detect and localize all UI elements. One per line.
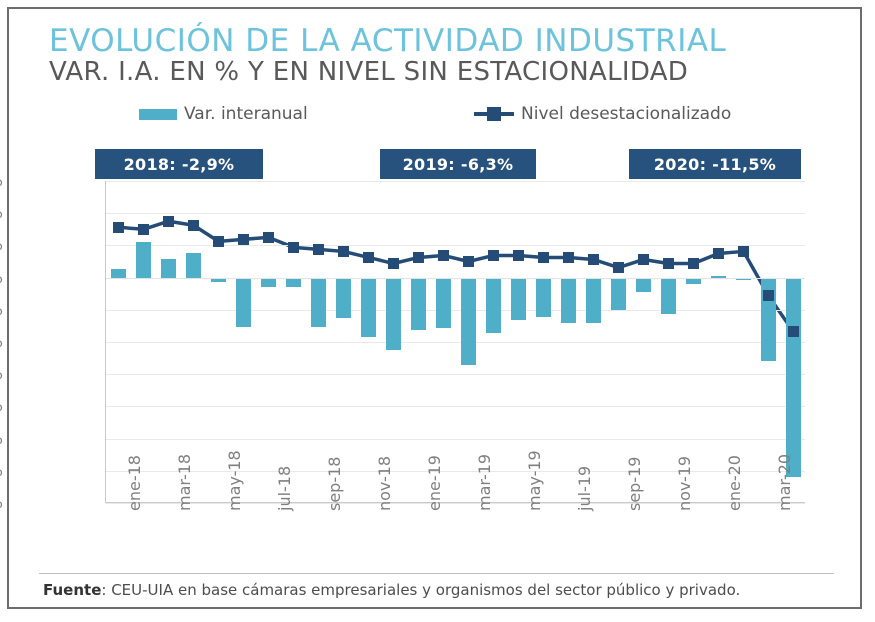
line-marker-sep-19[interactable] xyxy=(613,262,624,273)
line-marker-abr-20[interactable] xyxy=(788,326,799,337)
line-marker-jun-19[interactable] xyxy=(538,252,549,263)
legend-line-swatch-icon xyxy=(474,107,514,121)
x-axis-label-jul-18: jul-18 xyxy=(275,466,294,511)
y-axis-left-tick: 0% xyxy=(0,268,3,287)
chart-subtitle: VAR. I.A. EN % Y EN NIVEL SIN ESTACIONAL… xyxy=(49,57,839,87)
y-axis-left-tick: -35% xyxy=(0,493,3,512)
bar-nov-19[interactable] xyxy=(661,278,677,314)
line-marker-dic-18[interactable] xyxy=(388,258,399,269)
x-axis-label-ene-19: ene-19 xyxy=(425,455,444,511)
bar-jun-19[interactable] xyxy=(536,278,552,317)
line-marker-feb-19[interactable] xyxy=(438,250,449,261)
legend-label-var-interanual: Var. interanual xyxy=(184,104,308,124)
line-marker-oct-19[interactable] xyxy=(638,254,649,265)
y-axis-left-tick: 15% xyxy=(0,171,3,190)
line-marker-mar-18[interactable] xyxy=(163,216,174,227)
line-marker-ene-18[interactable] xyxy=(113,222,124,233)
chart-frame: EVOLUCIÓN DE LA ACTIVIDAD INDUSTRIAL VAR… xyxy=(7,7,862,609)
line-marker-may-18[interactable] xyxy=(213,236,224,247)
bar-abr-19[interactable] xyxy=(486,278,502,333)
line-marker-dic-19[interactable] xyxy=(688,258,699,269)
annotation-2019: 2019: -6,3% xyxy=(380,149,536,179)
bar-ago-18[interactable] xyxy=(286,278,302,287)
bar-abr-20[interactable] xyxy=(786,278,802,478)
gridline xyxy=(106,374,805,375)
gridline xyxy=(106,213,805,214)
line-marker-nov-19[interactable] xyxy=(663,258,674,269)
y-axis-left-tick: -10% xyxy=(0,332,3,351)
line-marker-jun-18[interactable] xyxy=(238,234,249,245)
line-marker-feb-20[interactable] xyxy=(738,246,749,257)
footer-source-label: Fuente xyxy=(43,581,101,599)
plot-area: 15%10%5%0%-5%-10%-15%-20%-25%-30%-35%160… xyxy=(105,181,805,503)
x-axis-label-nov-18: nov-18 xyxy=(375,456,394,511)
line-marker-mar-19[interactable] xyxy=(463,256,474,267)
gridline xyxy=(106,181,805,182)
y-axis-left-tick: -30% xyxy=(0,461,3,480)
line-marker-jul-19[interactable] xyxy=(563,252,574,263)
annotation-2020: 2020: -11,5% xyxy=(629,149,801,179)
x-axis-label-mar-18: mar-18 xyxy=(175,454,194,511)
footer-source: Fuente: CEU-UIA en base cámaras empresar… xyxy=(43,581,833,599)
line-marker-ago-19[interactable] xyxy=(588,254,599,265)
x-axis-label-may-18: may-18 xyxy=(225,450,244,511)
y-axis-left-tick: 10% xyxy=(0,203,3,222)
bar-may-19[interactable] xyxy=(511,278,527,321)
legend-label-nivel-desestacionalizado: Nivel desestacionalizado xyxy=(521,104,731,124)
x-axis-label-jul-19: jul-19 xyxy=(575,466,594,511)
bar-dic-18[interactable] xyxy=(386,278,402,351)
line-marker-ene-20[interactable] xyxy=(713,248,724,259)
gridline xyxy=(106,310,805,311)
bar-feb-18[interactable] xyxy=(136,242,152,278)
x-axis-label-ene-18: ene-18 xyxy=(125,455,144,511)
bar-sep-19[interactable] xyxy=(611,278,627,311)
line-marker-may-19[interactable] xyxy=(513,250,524,261)
y-axis-left-tick: -15% xyxy=(0,364,3,383)
bar-feb-19[interactable] xyxy=(436,278,452,329)
line-marker-abr-18[interactable] xyxy=(188,220,199,231)
x-axis-label-nov-19: nov-19 xyxy=(675,456,694,511)
line-marker-ago-18[interactable] xyxy=(288,242,299,253)
bar-jul-18[interactable] xyxy=(261,278,277,288)
x-axis-label-ene-20: ene-20 xyxy=(725,455,744,511)
gridline xyxy=(106,439,805,440)
y-axis-left-tick: -20% xyxy=(0,396,3,415)
x-axis-label-may-19: may-19 xyxy=(525,450,544,511)
bar-mar-18[interactable] xyxy=(161,259,177,278)
bar-ene-19[interactable] xyxy=(411,278,427,331)
bar-ene-18[interactable] xyxy=(111,269,127,278)
bar-jul-19[interactable] xyxy=(561,278,577,324)
gridline xyxy=(106,342,805,343)
footer-divider xyxy=(39,573,834,574)
bar-ago-19[interactable] xyxy=(586,278,602,323)
legend-bar-swatch-icon xyxy=(139,109,177,120)
bar-oct-19[interactable] xyxy=(636,278,652,293)
bar-oct-18[interactable] xyxy=(336,278,352,318)
footer-source-text: : CEU-UIA en base cámaras empresariales … xyxy=(101,581,740,599)
annotation-2018: 2018: -2,9% xyxy=(95,149,263,179)
line-marker-ene-19[interactable] xyxy=(413,252,424,263)
x-axis-label-mar-19: mar-19 xyxy=(475,454,494,511)
gridline xyxy=(106,245,805,246)
line-marker-feb-18[interactable] xyxy=(138,224,149,235)
bar-sep-18[interactable] xyxy=(311,278,327,328)
x-axis-label-mar-20: mar-20 xyxy=(775,454,794,511)
chart-title: EVOLUCIÓN DE LA ACTIVIDAD INDUSTRIAL xyxy=(49,23,829,59)
line-marker-oct-18[interactable] xyxy=(338,246,349,257)
x-axis-label-sep-18: sep-18 xyxy=(325,457,344,511)
zero-baseline xyxy=(106,278,805,279)
line-marker-nov-18[interactable] xyxy=(363,252,374,263)
bar-abr-18[interactable] xyxy=(186,253,202,277)
bar-mar-19[interactable] xyxy=(461,278,477,365)
line-marker-sep-18[interactable] xyxy=(313,244,324,255)
legend-item-nivel-desestacionalizado[interactable]: Nivel desestacionalizado xyxy=(474,101,731,127)
legend-item-var-interanual[interactable]: Var. interanual xyxy=(139,101,308,127)
bar-jun-18[interactable] xyxy=(236,278,252,328)
y-axis-left-tick: -25% xyxy=(0,429,3,448)
line-marker-mar-20[interactable] xyxy=(763,290,774,301)
y-axis-left-tick: -5% xyxy=(0,300,3,319)
line-marker-jul-18[interactable] xyxy=(263,232,274,243)
gridline xyxy=(106,471,805,472)
gridline xyxy=(106,503,805,504)
bar-nov-18[interactable] xyxy=(361,278,377,337)
x-axis-label-sep-19: sep-19 xyxy=(625,457,644,511)
chart-legend: Var. interanual Nivel desestacionalizado xyxy=(9,101,864,127)
y-axis-left-tick: 5% xyxy=(0,235,3,254)
line-marker-abr-19[interactable] xyxy=(488,250,499,261)
gridline xyxy=(106,406,805,407)
